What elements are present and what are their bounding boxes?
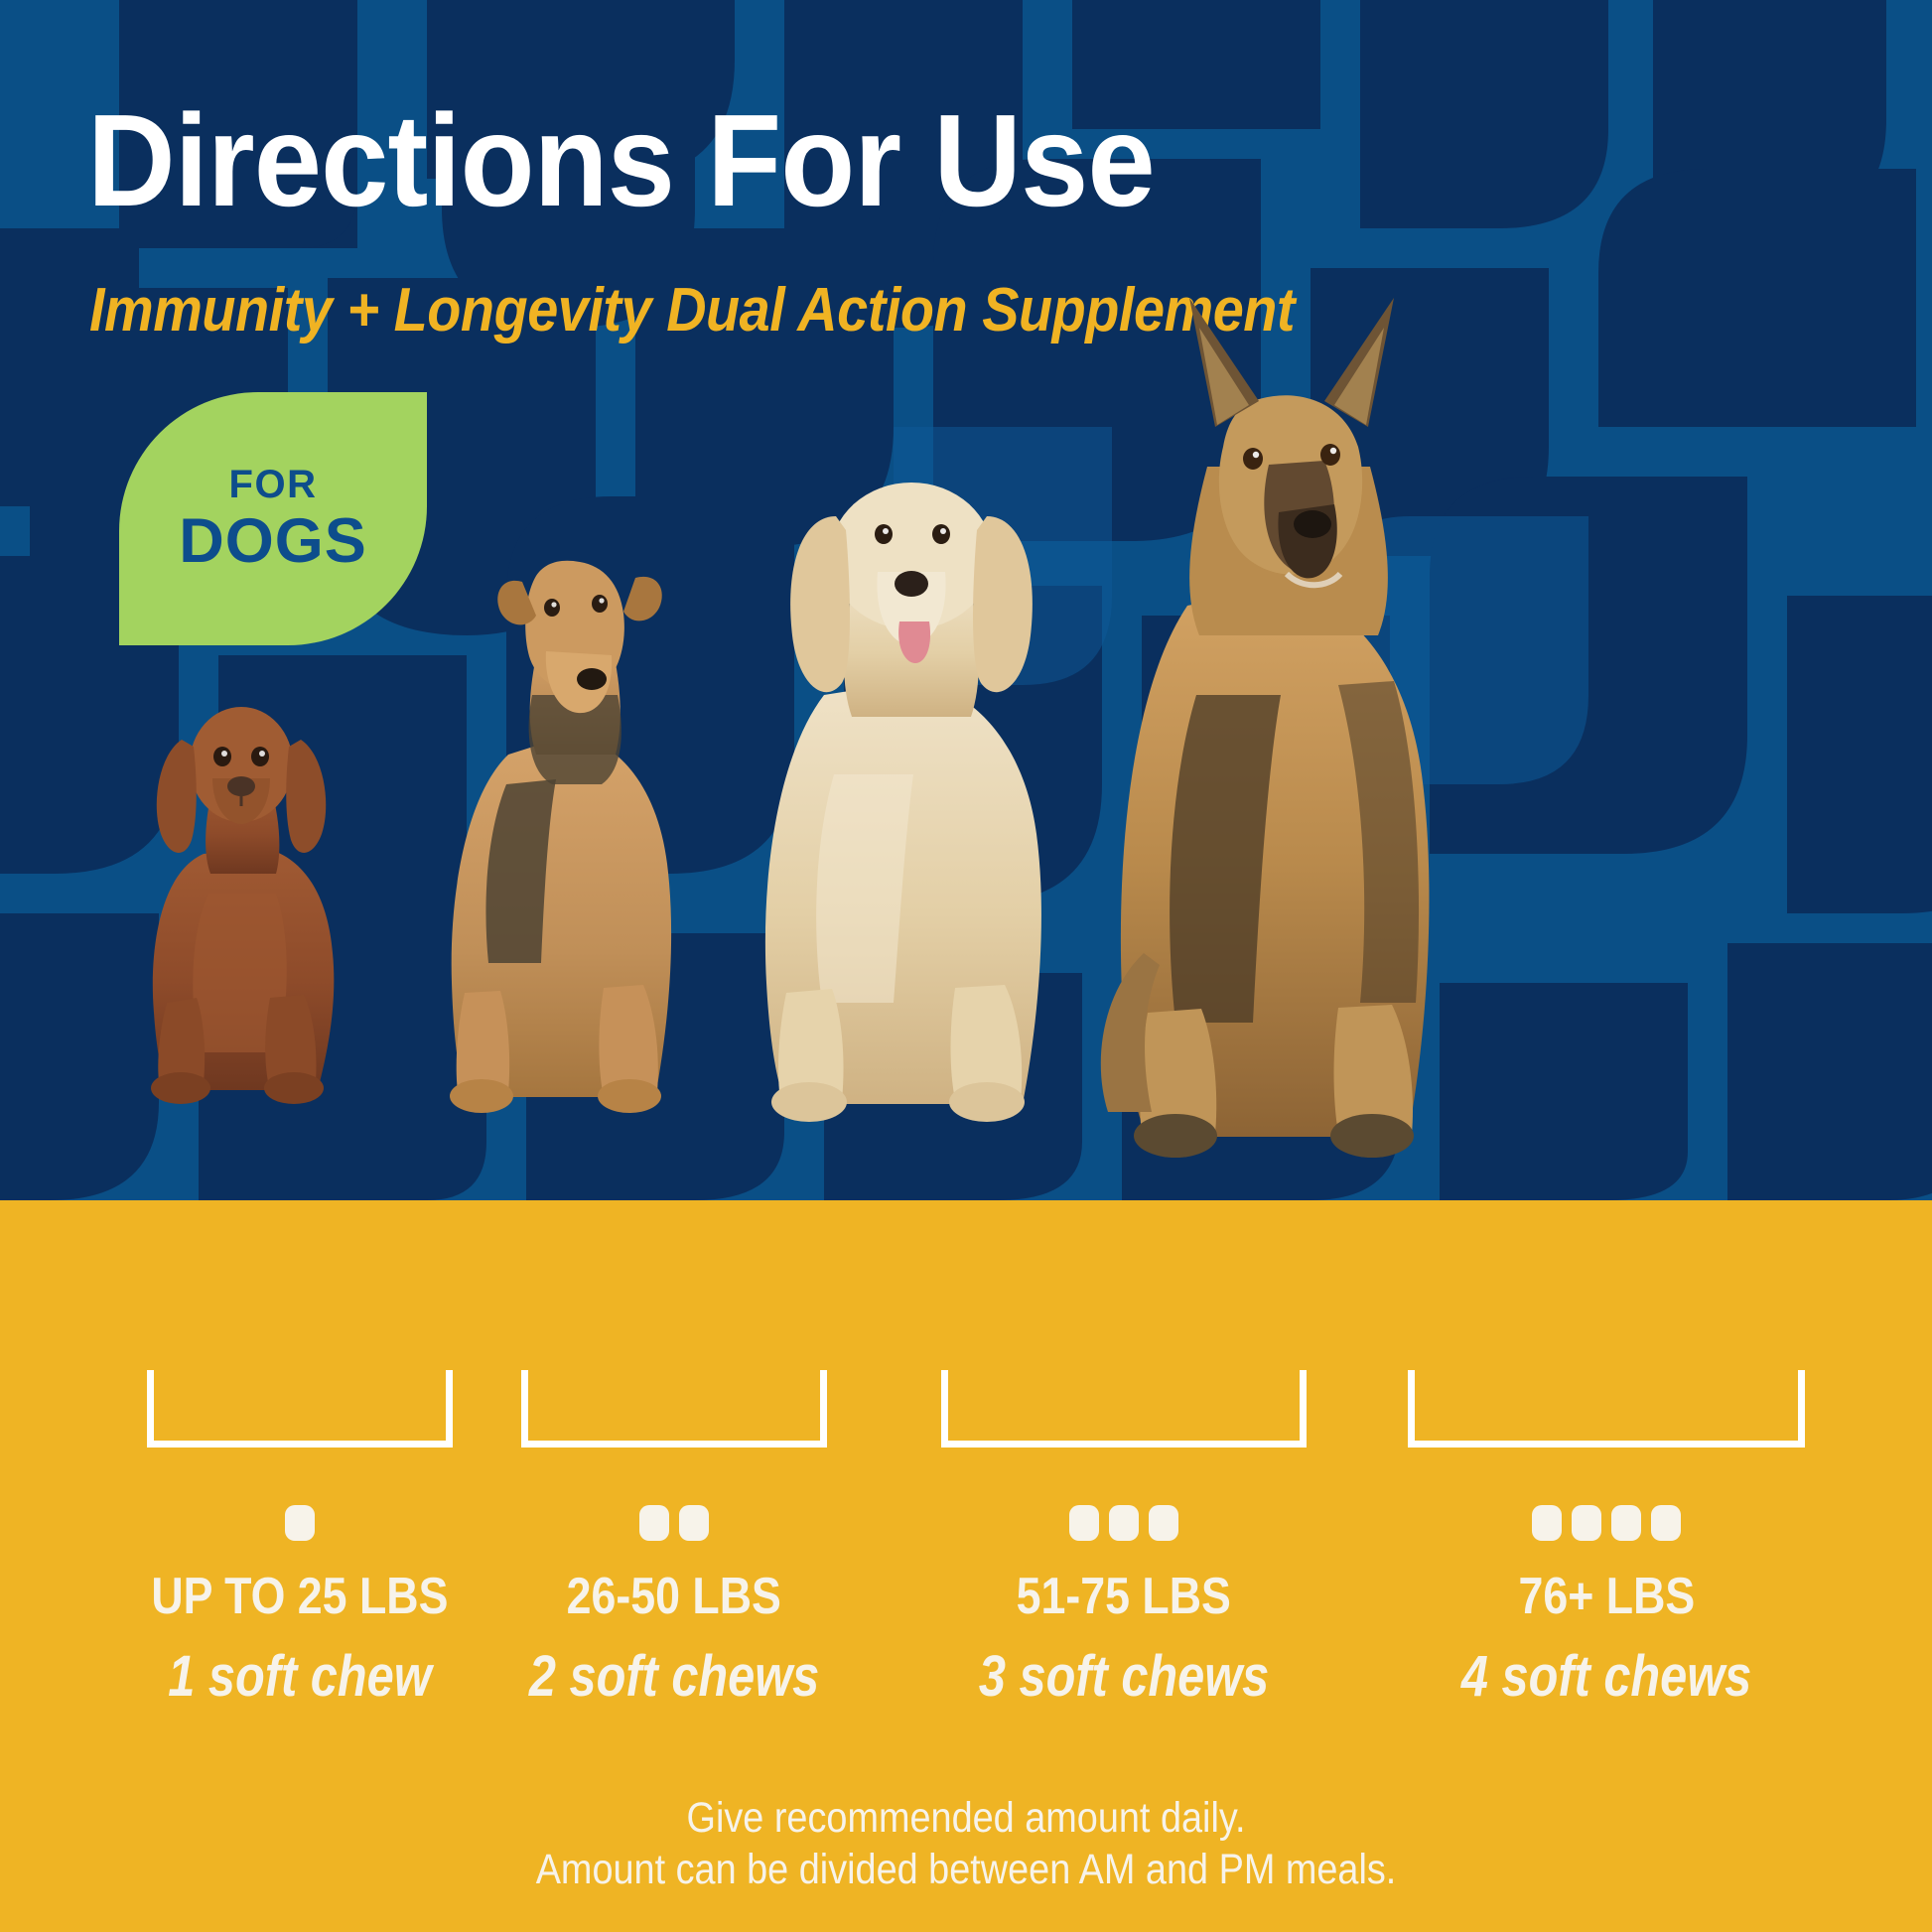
weight-label-3: 51-75 LBS	[1017, 1571, 1231, 1622]
chew-pills-2	[639, 1505, 709, 1541]
page-subtitle: Immunity + Longevity Dual Action Supplem…	[89, 280, 1295, 342]
dose-label-4: 4 soft chews	[1461, 1648, 1751, 1706]
badge-label-for: FOR	[229, 465, 318, 504]
weight-label-2: 26-50 LBS	[567, 1571, 781, 1622]
bracket-1	[147, 1370, 453, 1448]
dosage-column-4: 76+ LBS 4 soft chews	[1408, 1370, 1805, 1706]
poster: Directions For Use Immunity + Longevity …	[0, 0, 1932, 1932]
weight-label-4: 76+ LBS	[1518, 1571, 1695, 1622]
chew-pill	[1572, 1505, 1601, 1541]
dosage-columns: UP TO 25 LBS 1 soft chew 26-50 LBS 2 sof…	[0, 1370, 1932, 1787]
bracket-4	[1408, 1370, 1805, 1448]
chew-pills-1	[285, 1505, 315, 1541]
chew-pill	[1611, 1505, 1641, 1541]
dosage-column-1: UP TO 25 LBS 1 soft chew	[147, 1370, 453, 1706]
chew-pill	[1651, 1505, 1681, 1541]
page-title: Directions For Use	[87, 95, 1155, 226]
footer-instructions: Give recommended amount daily. Amount ca…	[0, 1792, 1932, 1896]
dose-label-1: 1 soft chew	[168, 1648, 431, 1706]
chew-pills-3	[1069, 1505, 1178, 1541]
chew-pill	[1109, 1505, 1139, 1541]
bracket-2	[521, 1370, 827, 1448]
chew-pill	[639, 1505, 669, 1541]
badge-label-dogs: DOGS	[179, 510, 367, 573]
chew-pill	[1149, 1505, 1178, 1541]
chew-pill	[1069, 1505, 1099, 1541]
dosage-column-3: 51-75 LBS 3 soft chews	[941, 1370, 1307, 1706]
chew-pills-4	[1532, 1505, 1681, 1541]
chew-pill	[1532, 1505, 1562, 1541]
dosage-column-2: 26-50 LBS 2 soft chews	[521, 1370, 827, 1706]
dose-label-2: 2 soft chews	[529, 1648, 819, 1706]
weight-label-1: UP TO 25 LBS	[151, 1571, 448, 1622]
dose-label-3: 3 soft chews	[979, 1648, 1269, 1706]
footer-line-2: Amount can be divided between AM and PM …	[116, 1844, 1816, 1895]
bracket-3	[941, 1370, 1307, 1448]
chew-pill	[285, 1505, 315, 1541]
footer-line-1: Give recommended amount daily.	[116, 1792, 1816, 1844]
chew-pill	[679, 1505, 709, 1541]
for-dogs-badge: FOR DOGS	[119, 392, 427, 645]
